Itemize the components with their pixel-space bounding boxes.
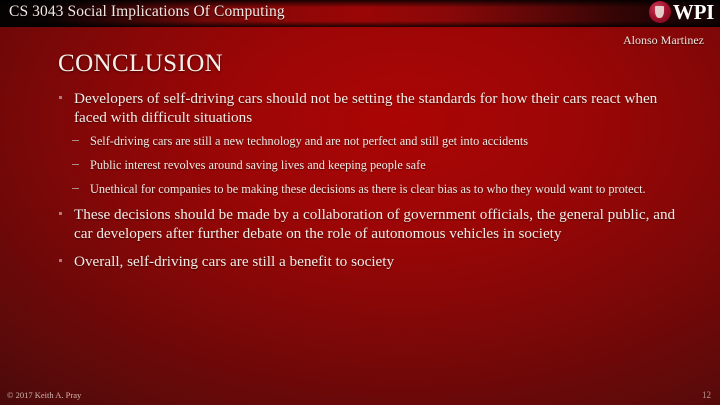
sub-bullet-text: Public interest revolves around saving l…: [90, 158, 426, 172]
page-number: 12: [702, 390, 711, 400]
sub-bullet-item: Self-driving cars are still a new techno…: [56, 134, 686, 149]
dash-marker-icon: [72, 164, 79, 165]
wpi-wordmark: WPI: [673, 1, 714, 23]
bullet-marker-icon: [59, 259, 62, 262]
bullet-text: These decisions should be made by a coll…: [74, 206, 686, 243]
sub-bullet-text: Unethical for companies to be making the…: [90, 182, 646, 196]
bullet-text: Overall, self-driving cars are still a b…: [74, 253, 686, 272]
shield-icon: [655, 6, 664, 18]
slide-title: CONCLUSION: [58, 50, 223, 78]
bullet-marker-icon: [59, 212, 62, 215]
slide-body: Developers of self-driving cars should n…: [56, 90, 686, 276]
bullet-marker-icon: [59, 96, 62, 99]
sub-bullet-group: Self-driving cars are still a new techno…: [56, 134, 686, 197]
dash-marker-icon: [72, 140, 79, 141]
wpi-seal-icon: [649, 1, 671, 23]
sub-bullet-item: Unethical for companies to be making the…: [56, 182, 686, 197]
presentation-slide: CS 3043 Social Implications Of Computing…: [0, 0, 720, 405]
bullet-item: These decisions should be made by a coll…: [56, 206, 686, 243]
bullet-text: Developers of self-driving cars should n…: [74, 90, 686, 127]
course-title: CS 3043 Social Implications Of Computing: [9, 3, 285, 21]
author-name: Alonso Martinez: [623, 33, 704, 48]
sub-bullet-item: Public interest revolves around saving l…: [56, 158, 686, 173]
dash-marker-icon: [72, 188, 79, 189]
copyright-notice: © 2017 Keith A. Pray: [7, 390, 81, 400]
slide-header-bar: CS 3043 Social Implications Of Computing…: [0, 0, 720, 27]
sub-bullet-text: Self-driving cars are still a new techno…: [90, 134, 528, 148]
bullet-item: Overall, self-driving cars are still a b…: [56, 253, 686, 272]
bullet-item: Developers of self-driving cars should n…: [56, 90, 686, 127]
wpi-logo: WPI: [649, 1, 714, 23]
